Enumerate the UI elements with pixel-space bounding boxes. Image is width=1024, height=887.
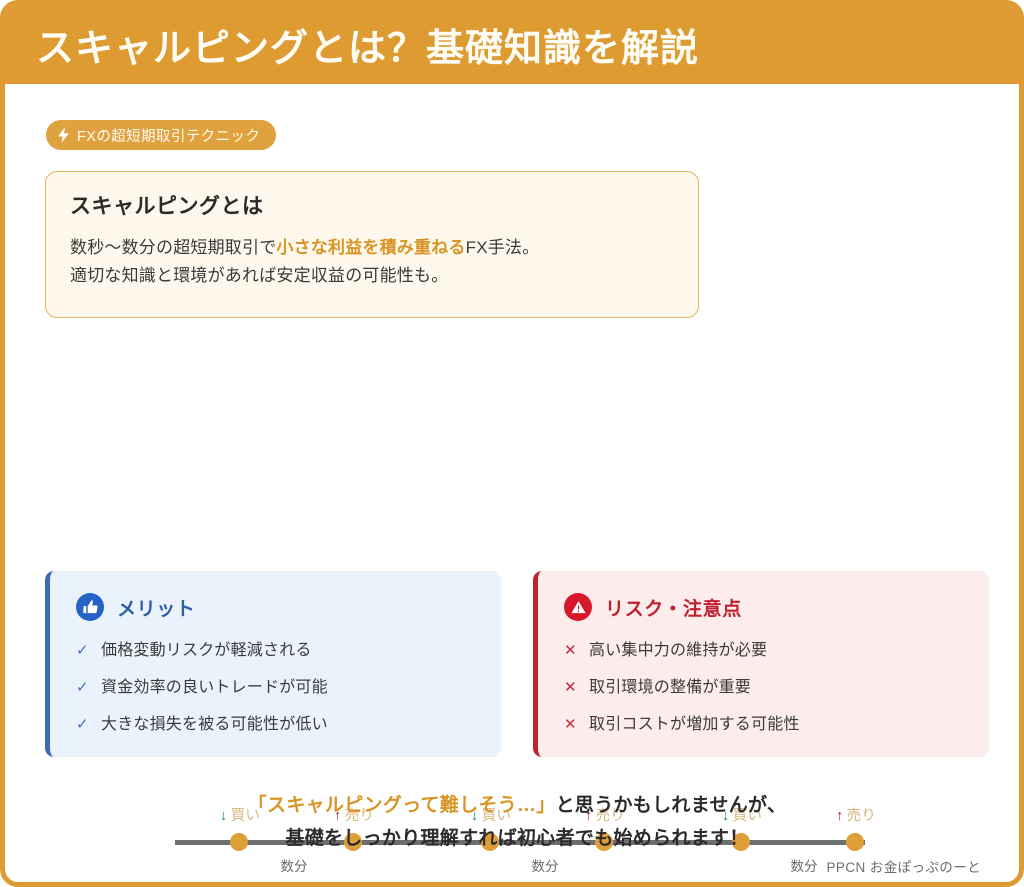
closing-message: 「スキャルピングって難しそう…」と思うかもしれませんが、 基礎をしっかり理解すれ… xyxy=(5,790,1024,855)
definition-box: スキャルピングとは 数秒〜数分の超短期取引で小さな利益を積み重ねるFX手法。 適… xyxy=(45,171,699,318)
definition-line1-pre: 数秒〜数分の超短期取引で xyxy=(70,238,276,257)
list-item-label: 取引コストが増加する可能性 xyxy=(589,710,800,734)
closing-line-2: 基礎をしっかり理解すれば初心者でも始められます！ xyxy=(5,823,1024,856)
list-item-label: 価格変動リスクが軽減される xyxy=(101,636,312,660)
category-badge-label: FXの超短期取引テクニック xyxy=(77,125,260,146)
category-badge: FXの超短期取引テクニック xyxy=(46,120,276,150)
risk-card: リスク・注意点 ✕高い集中力の維持が必要✕取引環境の整備が重要✕取引コストが増加… xyxy=(533,571,989,757)
header-bar: スキャルピングとは？基礎知識を解説 xyxy=(4,4,1024,84)
check-icon: ✓ xyxy=(76,641,90,659)
definition-title: スキャルピングとは xyxy=(70,190,674,220)
closing-line-1: 「スキャルピングって難しそう…」と思うかもしれませんが、 xyxy=(5,790,1024,823)
list-item: ✕取引コストが増加する可能性 xyxy=(564,710,989,734)
list-item-label: 資金効率の良いトレードが可能 xyxy=(101,673,328,697)
merit-card: メリット ✓価格変動リスクが軽減される✓資金効率の良いトレードが可能✓大きな損失… xyxy=(45,571,501,757)
definition-line-2: 適切な知識と環境があれば安定収益の可能性も。 xyxy=(70,262,674,290)
timeline-gap-label: 数分 xyxy=(791,855,818,875)
trade-cycle-timeline: ↓買い↑売り↓買い↑売り↓買い↑売り 数分数分数分 xyxy=(5,400,1024,495)
footer-credit: PPCN お金ぽっぷのーと xyxy=(827,856,981,876)
cross-icon: ✕ xyxy=(564,678,578,696)
list-item: ✓大きな損失を被る可能性が低い xyxy=(76,710,501,734)
cross-icon: ✕ xyxy=(564,715,578,733)
merit-item-list: ✓価格変動リスクが軽減される✓資金効率の良いトレードが可能✓大きな損失を被る可能… xyxy=(76,636,501,734)
list-item: ✓資金効率の良いトレードが可能 xyxy=(76,673,501,697)
list-item-label: 取引環境の整備が重要 xyxy=(589,673,751,697)
pros-cons-section: メリット ✓価格変動リスクが軽減される✓資金効率の良いトレードが可能✓大きな損失… xyxy=(5,571,1024,759)
merit-card-header: メリット xyxy=(76,593,501,621)
definition-highlight: 小さな利益を積み重ねる xyxy=(276,238,465,257)
infographic-card: スキャルピングとは？基礎知識を解説 FXの超短期取引テクニック スキャルピングと… xyxy=(0,0,1024,887)
check-icon: ✓ xyxy=(76,715,90,733)
page-title: スキャルピングとは？基礎知識を解説 xyxy=(36,17,699,72)
bolt-icon xyxy=(58,127,70,143)
cross-icon: ✕ xyxy=(564,641,578,659)
risk-card-header: リスク・注意点 xyxy=(564,593,989,621)
list-item: ✓価格変動リスクが軽減される xyxy=(76,636,501,660)
risk-item-list: ✕高い集中力の維持が必要✕取引環境の整備が重要✕取引コストが増加する可能性 xyxy=(564,636,989,734)
closing-quote: 「スキャルピングって難しそう…」 xyxy=(248,795,556,816)
warning-icon xyxy=(564,593,592,621)
timeline-gap-label: 数分 xyxy=(281,855,308,875)
check-icon: ✓ xyxy=(76,678,90,696)
merit-card-title: メリット xyxy=(117,594,195,621)
definition-line-1: 数秒〜数分の超短期取引で小さな利益を積み重ねるFX手法。 xyxy=(70,234,674,262)
risk-card-title: リスク・注意点 xyxy=(605,594,742,621)
list-item-label: 大きな損失を被る可能性が低い xyxy=(101,710,328,734)
definition-line1-post: FX手法。 xyxy=(466,238,540,257)
closing-line1-rest: と思うかもしれませんが、 xyxy=(556,795,787,816)
list-item: ✕高い集中力の維持が必要 xyxy=(564,636,989,660)
list-item: ✕取引環境の整備が重要 xyxy=(564,673,989,697)
list-item-label: 高い集中力の維持が必要 xyxy=(589,636,767,660)
timeline-gap-label: 数分 xyxy=(532,855,559,875)
thumbs-up-icon xyxy=(76,593,104,621)
